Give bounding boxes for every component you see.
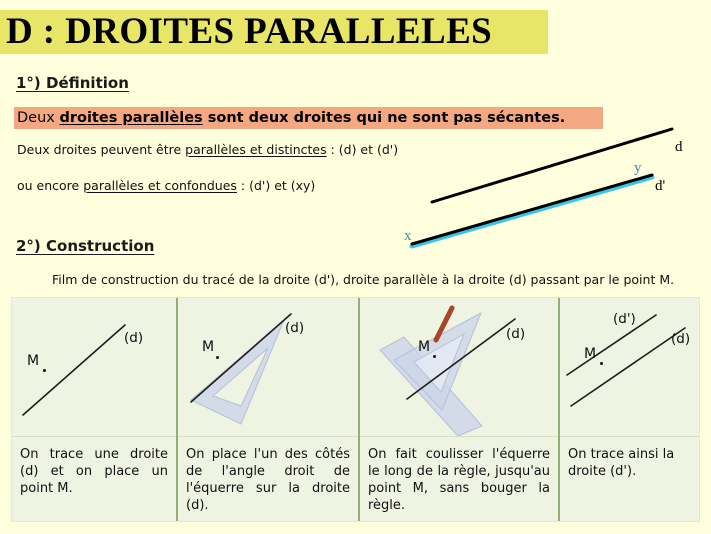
panel-4-artwork: (d') (d) M bbox=[560, 298, 699, 436]
film-description: Film de construction du tracé de la droi… bbox=[52, 272, 674, 287]
panel-4-point-marker bbox=[600, 362, 603, 365]
panel-2-label-d: (d) bbox=[285, 320, 304, 336]
construction-panel-2: (d) M On place l'un des côtés de l'angle… bbox=[176, 298, 358, 521]
panel-2-set-square bbox=[191, 320, 284, 424]
figure-label-d-prime: d' bbox=[655, 178, 665, 195]
body-line-confondues: ou encore parallèles et confondues : (d'… bbox=[17, 178, 315, 193]
figure-label-y: y bbox=[634, 160, 642, 177]
parallel-lines-figure: d d' y x bbox=[390, 118, 711, 263]
panel-1-label-d: (d) bbox=[124, 330, 143, 346]
definition-part-1: Deux bbox=[17, 110, 59, 126]
construction-panel-1: (d) M On trace une droite (d) et on plac… bbox=[12, 298, 176, 521]
panel-2-label-m: M bbox=[202, 339, 214, 355]
panel-3-point-marker bbox=[433, 355, 436, 358]
body-line-1-part-1: Deux droites peuvent être bbox=[17, 142, 185, 157]
panel-4-label-d-prime: (d') bbox=[613, 311, 636, 327]
panel-4-caption: On trace ainsi la droite (d'). bbox=[560, 437, 699, 521]
panel-4-label-d: (d) bbox=[671, 331, 690, 347]
construction-panel-4: (d') (d) M On trace ainsi la droite (d')… bbox=[558, 298, 699, 521]
panel-2-artwork: (d) M bbox=[178, 298, 358, 436]
panel-2-caption: On place l'un des côtés de l'angle droit… bbox=[178, 437, 358, 521]
panel-3-artwork: (d) M bbox=[360, 298, 558, 436]
panel-3-caption: On fait coulisser l'équerre le long de l… bbox=[360, 437, 558, 521]
panel-1-artwork: (d) M bbox=[12, 298, 176, 436]
panel-2-point-marker bbox=[216, 356, 219, 359]
lesson-page: D : DROITES PARALLELES 1°) Définition De… bbox=[0, 0, 711, 534]
figure-label-d: d bbox=[675, 139, 683, 156]
panel-3-svg bbox=[360, 298, 558, 436]
line-dprime-cyan-stroke bbox=[412, 177, 652, 246]
panel-1-point-marker bbox=[43, 369, 46, 372]
body-line-1-term: parallèles et distinctes bbox=[185, 142, 326, 157]
body-line-2-part-1: ou encore bbox=[17, 178, 83, 193]
page-title: D : DROITES PARALLELES bbox=[6, 10, 546, 54]
panel-1-line-d bbox=[23, 325, 125, 415]
panel-1-caption: On trace une droite (d) et on place un p… bbox=[12, 437, 176, 521]
body-line-2-term: parallèles et confondues bbox=[83, 178, 237, 193]
construction-panel-3: (d) M On fait coulisser l'équerre le lon… bbox=[358, 298, 558, 521]
definition-key-term: droites parallèles bbox=[59, 110, 202, 126]
panel-4-line-d bbox=[571, 328, 685, 406]
line-dprime-black-stroke bbox=[412, 175, 652, 244]
section-1-heading: 1°) Définition bbox=[16, 74, 129, 92]
body-line-2-part-3: : (d') et (xy) bbox=[237, 178, 315, 193]
panel-3-label-d: (d) bbox=[506, 326, 525, 342]
body-line-1-part-3: : (d) et (d') bbox=[327, 142, 399, 157]
panel-3-label-m: M bbox=[418, 339, 430, 355]
body-line-distinctes: Deux droites peuvent être parallèles et … bbox=[17, 142, 398, 157]
construction-panels: (d) M On trace une droite (d) et on plac… bbox=[11, 297, 700, 522]
panel-4-label-m: M bbox=[584, 346, 596, 362]
figure-label-x: x bbox=[404, 228, 412, 245]
panel-1-label-m: M bbox=[27, 353, 39, 369]
section-2-heading: 2°) Construction bbox=[16, 237, 154, 255]
panel-4-line-d-prime bbox=[567, 315, 656, 375]
panel-2-svg bbox=[178, 298, 358, 436]
